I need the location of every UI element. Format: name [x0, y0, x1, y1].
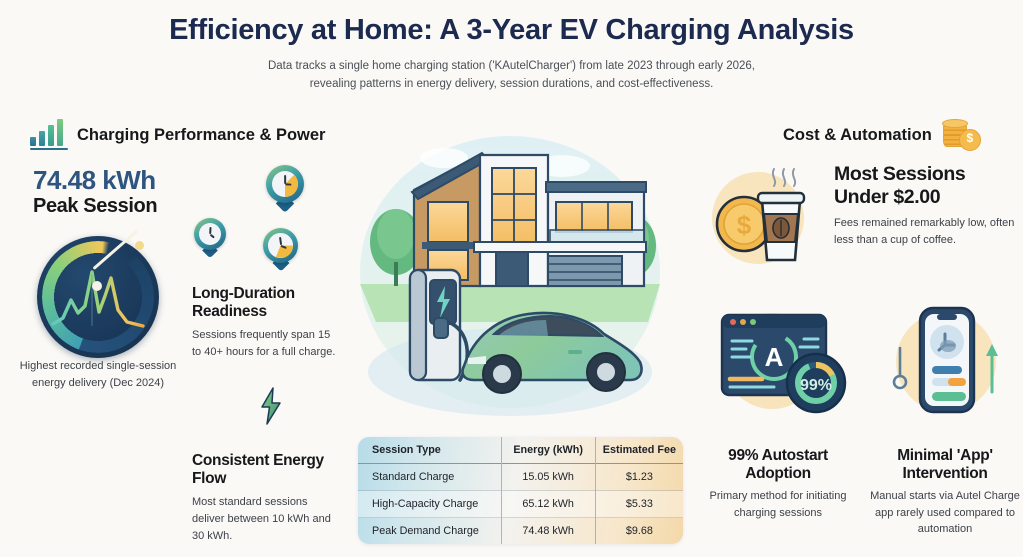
autostart-block: 99% Autostart Adoption Primary method fo…	[700, 447, 856, 521]
cell-energy: 15.05 kWh	[501, 464, 595, 491]
clock-pin-face	[268, 233, 293, 258]
section-title-left: Charging Performance & Power	[77, 126, 325, 145]
cost-heading-line-2: Under $2.00	[834, 186, 1016, 209]
cell-energy: 74.48 kWh	[501, 518, 595, 545]
long-duration-body: Sessions frequently span 15 to 40+ hours…	[192, 327, 337, 361]
table-row: High-Capacity Charge 65.12 kWh $5.33	[358, 491, 683, 518]
long-duration-block: Long-Duration Readiness Sessions frequen…	[192, 285, 337, 361]
peak-session-value: 74.48 kWh	[33, 166, 233, 195]
gauge-icon	[37, 236, 159, 358]
coins-icon: $	[941, 119, 981, 151]
dollar-coin: $	[959, 129, 981, 151]
table-body: Standard Charge 15.05 kWh $1.23 High-Cap…	[358, 464, 683, 545]
clock-pin-icon	[266, 165, 304, 203]
smartphone-tap-icon	[884, 300, 1008, 424]
browser-automation-icon: A 99%	[700, 303, 860, 421]
app-body: Manual starts via Autel Charge app rarel…	[866, 488, 1023, 538]
section-header-cost-automation: Cost & Automation $	[783, 119, 981, 151]
peak-session-stat: 74.48 kWh Peak Session	[33, 166, 233, 218]
gauge-hub	[92, 281, 102, 291]
cost-body: Fees remained remarkably low, often less…	[834, 215, 1016, 249]
table-header-row: Session Type Energy (kWh) Estimated Fee	[358, 437, 683, 464]
energy-flow-body: Most standard sessions deliver between 1…	[192, 494, 342, 545]
clock-pin-icon	[263, 228, 298, 263]
bar-chart-icon	[30, 120, 68, 150]
column-header-energy: Energy (kWh)	[501, 437, 595, 464]
page-title: Efficiency at Home: A 3-Year EV Charging…	[0, 14, 1023, 47]
cell-fee: $5.33	[595, 491, 683, 518]
energy-flow-block: Consistent Energy Flow Most standard ses…	[192, 452, 342, 545]
energy-flow-heading: Consistent Energy Flow	[192, 452, 342, 488]
cell-session-type: High-Capacity Charge	[358, 491, 501, 518]
subtitle-line-1: Data tracks a single home charging stati…	[0, 58, 1023, 76]
autostart-body: Primary method for initiating charging s…	[700, 488, 856, 521]
coffee-coin-icon: $	[700, 160, 820, 270]
home-ev-charging-illustration	[352, 122, 668, 418]
gauge-sparkline	[51, 266, 145, 330]
autostart-gauge-value: 99%	[800, 377, 832, 394]
session-comparison-table: Session Type Energy (kWh) Estimated Fee …	[358, 437, 683, 544]
cell-fee: $1.23	[595, 464, 683, 491]
autostart-heading: 99% Autostart Adoption	[700, 447, 856, 483]
app-intervention-block: Minimal 'App' Intervention Manual starts…	[866, 447, 1023, 538]
session-table: Session Type Energy (kWh) Estimated Fee …	[358, 437, 683, 544]
subtitle-line-2: revealing patterns in energy delivery, s…	[0, 76, 1023, 94]
clock-pin-icon	[194, 218, 226, 250]
lightning-bolt-icon	[258, 387, 284, 425]
app-heading: Minimal 'App' Intervention	[866, 447, 1023, 483]
section-title-right: Cost & Automation	[783, 126, 932, 145]
gauge-needle-tip	[135, 241, 144, 250]
table-row: Standard Charge 15.05 kWh $1.23	[358, 464, 683, 491]
cost-heading-line-1: Most Sessions	[834, 163, 1016, 186]
column-header-estimated-fee: Estimated Fee	[595, 437, 683, 464]
peak-session-label: Peak Session	[33, 195, 233, 218]
page-subtitle: Data tracks a single home charging stati…	[0, 58, 1023, 94]
long-duration-heading: Long-Duration Readiness	[192, 285, 337, 321]
table-row: Peak Demand Charge 74.48 kWh $9.68	[358, 518, 683, 545]
cost-summary-block: Most Sessions Under $2.00 Fees remained …	[834, 163, 1016, 249]
section-header-charging-performance: Charging Performance & Power	[30, 120, 325, 150]
clock-pin-face	[272, 171, 299, 198]
infographic-canvas: Efficiency at Home: A 3-Year EV Charging…	[0, 0, 1023, 557]
cell-energy: 65.12 kWh	[501, 491, 595, 518]
cell-fee: $9.68	[595, 518, 683, 545]
svg-text:$: $	[737, 210, 752, 240]
peak-session-caption: Highest recorded single-session energy d…	[12, 358, 184, 391]
table-head: Session Type Energy (kWh) Estimated Fee	[358, 437, 683, 464]
bar-chart-baseline	[30, 148, 68, 151]
header: Efficiency at Home: A 3-Year EV Charging…	[0, 14, 1023, 94]
svg-text:A: A	[765, 342, 784, 372]
cell-session-type: Peak Demand Charge	[358, 518, 501, 545]
cell-session-type: Standard Charge	[358, 464, 501, 491]
column-header-session-type: Session Type	[358, 437, 501, 464]
